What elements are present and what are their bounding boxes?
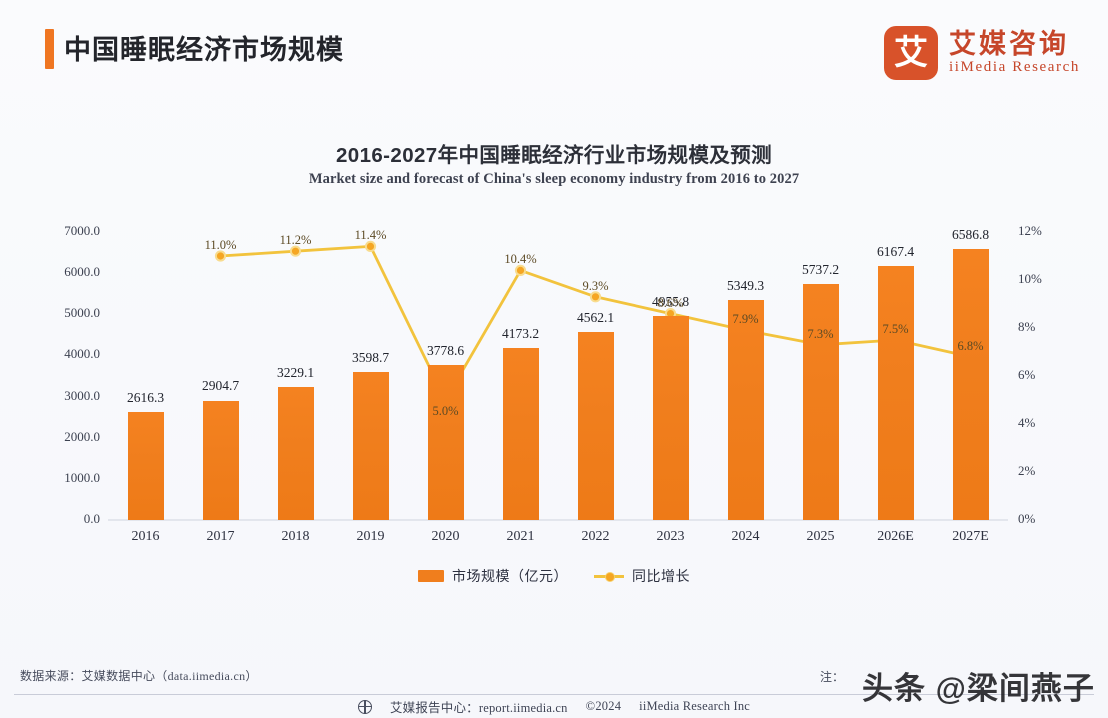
- growth-rate-label: 9.3%: [561, 279, 631, 294]
- y-axis-right-tick: 0%: [1018, 511, 1035, 527]
- y-axis-left-tick: 5000.0: [64, 305, 100, 321]
- y-axis-right-tick: 2%: [1018, 463, 1035, 479]
- x-axis-tick-2023: 2023: [633, 529, 708, 545]
- bar-2022[interactable]: [578, 332, 614, 520]
- bar-2021[interactable]: [503, 348, 539, 520]
- data-source-text: 数据来源：艾媒数据中心（data.iimedia.cn）: [20, 667, 258, 684]
- growth-rate-label: 11.4%: [336, 228, 406, 243]
- bar-2020[interactable]: [428, 365, 464, 520]
- bar-value-label: 3598.7: [330, 350, 412, 366]
- copyright-text: ©2024: [586, 699, 622, 714]
- y-axis-right-tick: 10%: [1018, 271, 1042, 287]
- page-title: 中国睡眠经济市场规模: [64, 28, 344, 67]
- legend-line-swatch-icon: [594, 570, 624, 582]
- growth-rate-label: 5.0%: [411, 404, 481, 419]
- brand-name-en: iiMedia Research: [949, 60, 1080, 76]
- bar-value-label: 5349.3: [705, 278, 787, 294]
- plot-area: 2616.32904.73229.13598.73778.64173.24562…: [108, 232, 1008, 520]
- legend-item-line[interactable]: 同比增长: [594, 566, 690, 586]
- growth-rate-label: 7.9%: [711, 312, 781, 327]
- growth-rate-label: 10.4%: [486, 252, 556, 267]
- x-axis: 2016201720182019202020212022202320242025…: [108, 529, 1008, 553]
- y-axis-left-tick: 2000.0: [64, 429, 100, 445]
- bar-2018[interactable]: [278, 387, 314, 520]
- bar-value-label: 2904.7: [180, 378, 262, 394]
- header: 中国睡眠经济市场规模 艾 艾媒咨询 iiMedia Research: [0, 0, 1108, 108]
- report-center-text: 艾媒报告中心：report.iimedia.cn: [390, 697, 568, 716]
- bar-value-label: 6586.8: [930, 227, 1012, 243]
- y-axis-left-tick: 6000.0: [64, 264, 100, 280]
- y-axis-left-tick: 4000.0: [64, 346, 100, 362]
- title-accent-bar: [45, 29, 54, 69]
- bar-2026E[interactable]: [878, 266, 914, 520]
- globe-icon: [358, 700, 372, 714]
- growth-rate-label: 7.5%: [861, 322, 931, 337]
- bar-value-label: 3229.1: [255, 365, 337, 381]
- y-axis-left: 7000.06000.05000.04000.03000.02000.01000…: [38, 232, 100, 520]
- bar-value-label: 4173.2: [480, 326, 562, 342]
- y-axis-left-tick: 7000.0: [64, 223, 100, 239]
- y-axis-left-tick: 0.0: [84, 511, 100, 527]
- brand-name-cn: 艾媒咨询: [949, 30, 1080, 58]
- bar-value-label: 3778.6: [405, 343, 487, 359]
- chart-title: 2016-2027年中国睡眠经济行业市场规模及预测: [0, 138, 1108, 168]
- brand-text: 艾媒咨询 iiMedia Research: [949, 30, 1080, 75]
- footer-note-text: 注：: [820, 668, 844, 685]
- bar-2025[interactable]: [803, 284, 839, 520]
- x-axis-tick-2020: 2020: [408, 529, 483, 545]
- bar-value-label: 6167.4: [855, 244, 937, 260]
- bar-value-label: 5737.2: [780, 262, 862, 278]
- bar-value-label: 4562.1: [555, 310, 637, 326]
- legend-bar-swatch-icon: [418, 570, 444, 582]
- y-axis-right-tick: 12%: [1018, 223, 1042, 239]
- legend-item-bar[interactable]: 市场规模（亿元）: [418, 566, 568, 586]
- legend-bar-label: 市场规模（亿元）: [452, 566, 568, 586]
- x-axis-tick-2026E: 2026E: [858, 529, 933, 545]
- x-axis-tick-2022: 2022: [558, 529, 633, 545]
- x-axis-tick-2025: 2025: [783, 529, 858, 545]
- x-axis-tick-2019: 2019: [333, 529, 408, 545]
- x-axis-tick-2016: 2016: [108, 529, 183, 545]
- y-axis-right-tick: 6%: [1018, 367, 1035, 383]
- bar-2017[interactable]: [203, 401, 239, 521]
- bar-value-label: 2616.3: [105, 390, 187, 406]
- x-axis-tick-2018: 2018: [258, 529, 333, 545]
- growth-rate-label: 11.0%: [186, 238, 256, 253]
- company-text: iiMedia Research Inc: [639, 699, 750, 714]
- bar-2027E[interactable]: [953, 249, 989, 520]
- y-axis-right-tick: 4%: [1018, 415, 1035, 431]
- chart-legend: 市场规模（亿元） 同比增长: [0, 566, 1108, 586]
- x-axis-tick-2021: 2021: [483, 529, 558, 545]
- bar-2024[interactable]: [728, 300, 764, 520]
- y-axis-right-tick: 8%: [1018, 319, 1035, 335]
- growth-rate-label: 7.3%: [786, 327, 856, 342]
- y-axis-right: 12%10%8%6%4%2%0%: [1018, 232, 1078, 520]
- growth-rate-label: 6.8%: [936, 339, 1006, 354]
- x-axis-tick-2024: 2024: [708, 529, 783, 545]
- footer-bar: 艾媒报告中心：report.iimedia.cn ©2024 iiMedia R…: [0, 695, 1108, 718]
- slide-canvas: 中国睡眠经济市场规模 艾 艾媒咨询 iiMedia Research 2016-…: [0, 0, 1108, 718]
- y-axis-left-tick: 3000.0: [64, 388, 100, 404]
- growth-line-series: [108, 232, 1008, 520]
- bar-2019[interactable]: [353, 372, 389, 520]
- x-axis-tick-2017: 2017: [183, 529, 258, 545]
- growth-rate-label: 8.6%: [636, 296, 706, 311]
- brand-logo: 艾 艾媒咨询 iiMedia Research: [884, 22, 1080, 84]
- y-axis-left-tick: 1000.0: [64, 470, 100, 486]
- bar-2023[interactable]: [653, 316, 689, 520]
- legend-line-label: 同比增长: [632, 566, 690, 586]
- growth-rate-label: 11.2%: [261, 233, 331, 248]
- chart-subtitle: Market size and forecast of China's slee…: [0, 171, 1108, 188]
- bar-2016[interactable]: [128, 412, 164, 520]
- x-axis-tick-2027E: 2027E: [933, 529, 1008, 545]
- iimedia-logo-icon: 艾: [884, 26, 938, 80]
